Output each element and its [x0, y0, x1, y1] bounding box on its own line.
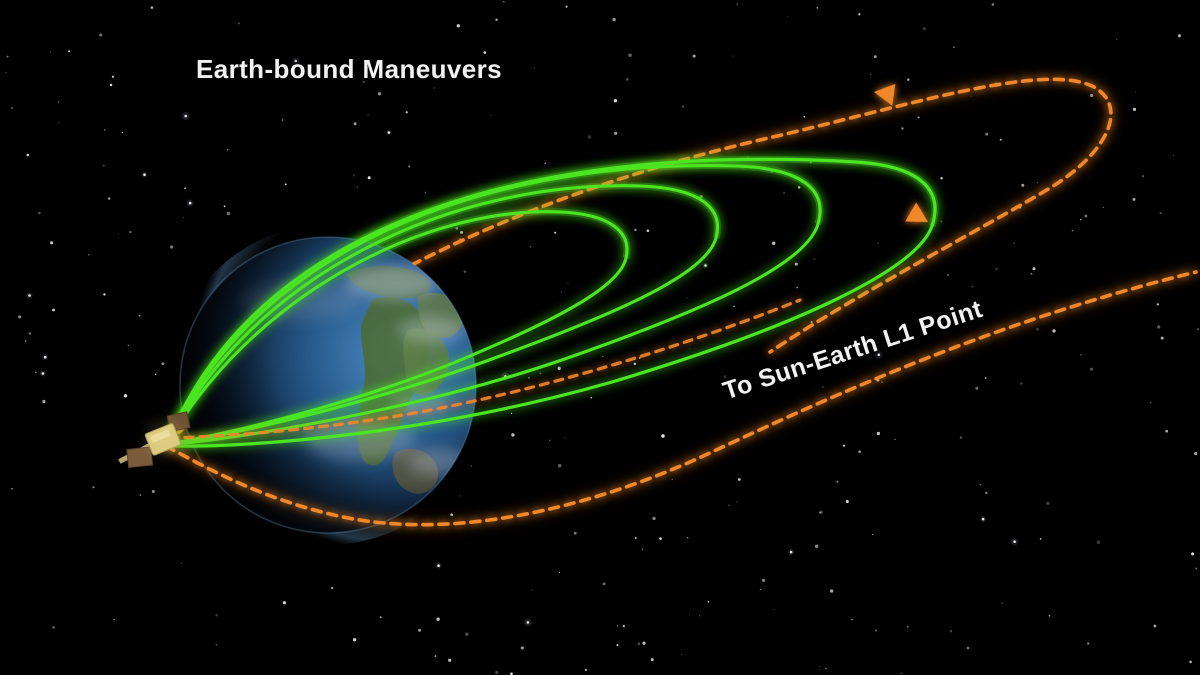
- mission-trajectory-diagram: Earth-bound Maneuvers To Sun-Earth L1 Po…: [0, 0, 1200, 675]
- direction-arrow-upper: [872, 81, 895, 106]
- direction-arrow-lower: [905, 202, 933, 231]
- earth: [168, 225, 488, 545]
- orbit-graphics-layer: [0, 0, 1200, 675]
- spacecraft-solar-panel-left: [127, 447, 153, 467]
